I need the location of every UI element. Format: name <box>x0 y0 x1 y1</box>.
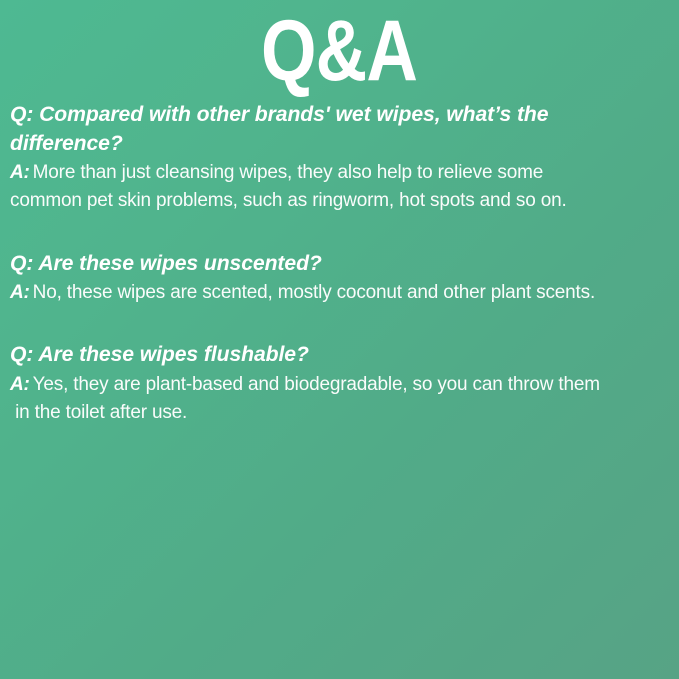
qa-answer-line: Yes, they are plant-based and biodegrada… <box>33 374 600 395</box>
qa-item: Q: Compared with other brands' wet wipes… <box>10 100 672 216</box>
qa-answer-prefix: A: <box>10 282 33 303</box>
qa-item: Q: Are these wipes flushable? A:Yes, the… <box>10 340 672 427</box>
qa-question: Q: Are these wipes unscented? <box>10 249 662 278</box>
qa-answer-line: No, these wipes are scented, mostly coco… <box>33 282 595 303</box>
qa-answer-line: in the toilet after use. <box>10 399 662 427</box>
page-title: Q&A <box>261 12 417 92</box>
qa-answer: A:Yes, they are plant-based and biodegra… <box>10 371 662 427</box>
qa-question: Q: Are these wipes flushable? <box>10 340 662 369</box>
qa-item: Q: Are these wipes unscented? A:No, thes… <box>10 249 672 308</box>
qa-answer-prefix: A: <box>10 374 33 395</box>
qa-answer-line: More than just cleansing wipes, they als… <box>33 162 544 183</box>
qa-answer: A:No, these wipes are scented, mostly co… <box>10 279 662 307</box>
title-container: Q&A <box>0 0 679 92</box>
qa-answer: A:More than just cleansing wipes, they a… <box>10 159 662 215</box>
qa-card: Q&A Q: Compared with other brands' wet w… <box>0 0 679 679</box>
qa-question: Q: Compared with other brands' wet wipes… <box>10 100 662 157</box>
qa-answer-line: common pet skin problems, such as ringwo… <box>10 187 662 215</box>
qa-answer-prefix: A: <box>10 162 33 183</box>
qa-list: Q: Compared with other brands' wet wipes… <box>10 100 672 427</box>
